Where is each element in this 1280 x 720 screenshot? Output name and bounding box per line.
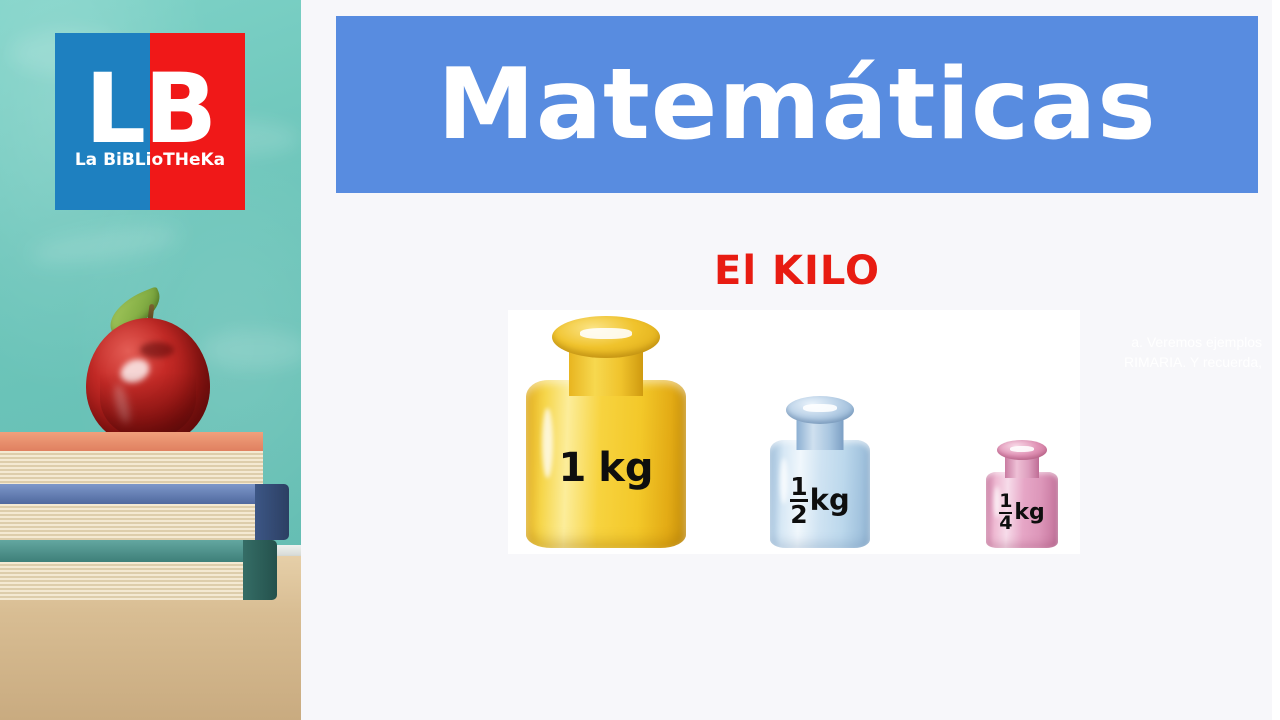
weight-unit: kg	[810, 486, 850, 515]
weight-knob-slot	[1010, 446, 1034, 452]
weight-unit: kg	[1014, 502, 1044, 524]
weight-half-kg: 1 2 kg	[770, 396, 870, 548]
weight-knob	[786, 396, 854, 424]
fraction-one-half: 1 2	[790, 475, 807, 526]
book-cover	[0, 484, 256, 504]
weights-illustration: 1 kg 1 2 k	[508, 310, 1080, 554]
weight-label-1kg: 1 kg	[526, 448, 686, 488]
apple-highlight	[111, 383, 132, 425]
title-banner: Matemáticas	[336, 16, 1258, 193]
book-stack-item	[0, 540, 243, 600]
book-stack-item	[0, 432, 263, 484]
weights-row: 1 kg 1 2 k	[508, 316, 1080, 548]
classroom-photo: LB La BiBLioTHeKa	[0, 0, 301, 720]
chalk-smudge	[29, 220, 182, 271]
book-stack-item	[0, 484, 256, 540]
logo: LB La BiBLioTHeKa	[55, 33, 245, 210]
subtitle: El KILO	[336, 248, 1258, 294]
weight-quarter-kg: 1 4 kg	[986, 440, 1058, 548]
weight-unit: kg	[598, 448, 653, 488]
apple-body	[86, 318, 210, 446]
apple-dimple	[140, 342, 174, 358]
logo-initials: LB	[55, 61, 245, 157]
weight-knob-slot	[803, 404, 837, 412]
book-cover	[0, 432, 263, 451]
book-pages	[0, 504, 256, 540]
book-spine	[243, 540, 277, 600]
weight-value: 1	[558, 448, 586, 488]
apple-highlight	[117, 355, 153, 387]
book-spine	[255, 484, 289, 540]
weight-label-half-kg: 1 2 kg	[770, 475, 870, 526]
fraction-denominator: 2	[790, 503, 807, 526]
page-title: Matemáticas	[437, 56, 1156, 154]
book-pages	[0, 451, 263, 484]
right-edge-strip	[1272, 0, 1280, 720]
fraction-denominator: 4	[999, 515, 1012, 532]
weight-knob	[552, 316, 660, 358]
weight-1kg: 1 kg	[526, 316, 686, 548]
slide-root: LB La BiBLioTHeKa Matemáticas El KILO n …	[0, 0, 1280, 720]
book-cover	[0, 540, 243, 562]
weight-knob-slot	[580, 328, 632, 339]
apple	[78, 290, 218, 450]
fraction-numerator: 1	[999, 493, 1012, 510]
weight-knob	[997, 440, 1047, 460]
book-pages	[0, 562, 243, 600]
logo-wordmark: La BiBLioTHeKa	[55, 150, 245, 170]
weight-label-quarter-kg: 1 4 kg	[986, 493, 1058, 532]
fraction-one-quarter: 1 4	[999, 493, 1012, 532]
fraction-numerator: 1	[790, 475, 807, 498]
